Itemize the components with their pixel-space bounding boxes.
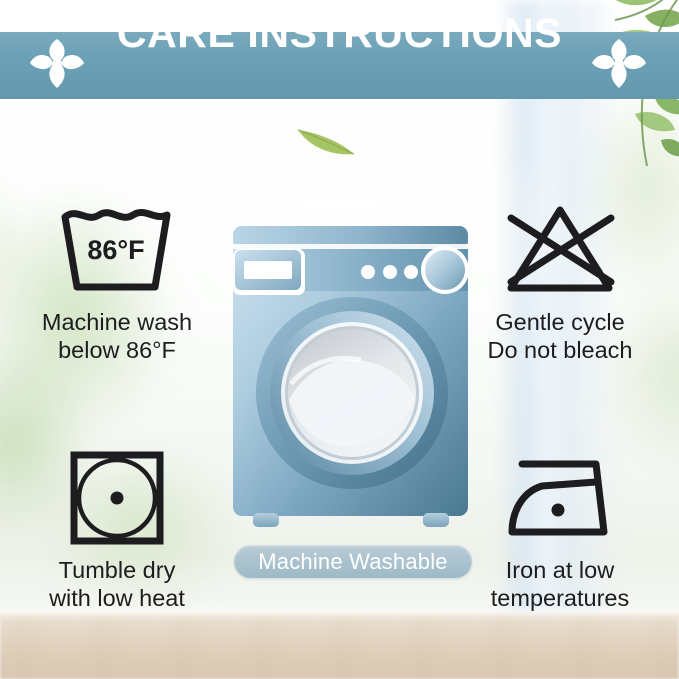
page-title: CARE INSTRUCTIONS: [0, 0, 679, 67]
care-symbol-iron: Iron at low temperatures: [455, 443, 665, 612]
washer-lid-seam: [233, 244, 468, 249]
care-symbol-label: Tumble dry with low heat: [12, 557, 222, 612]
care-symbol-label: Gentle cycle Do not bleach: [455, 309, 665, 364]
care-symbol-tumble-dry: Tumble dry with low heat: [12, 443, 222, 612]
washer-knob-dial[interactable]: [421, 246, 469, 294]
washer-indicator-dot: [361, 265, 375, 279]
washing-machine-illustration: [229, 208, 472, 538]
wood-grain-texture: [0, 613, 679, 679]
care-symbol-label: Iron at low temperatures: [455, 557, 665, 612]
care-symbol-label: Machine wash below 86°F: [12, 309, 222, 364]
care-symbol-machine-wash: 86°F Machine wash below 86°F: [12, 195, 222, 364]
triangle-crossed-icon: [455, 195, 665, 305]
iron-icon: [455, 443, 665, 553]
tumble-dry-icon: [12, 443, 222, 553]
washer-indicator-dot: [383, 265, 397, 279]
washer-indicator-dot: [404, 265, 418, 279]
washer-detergent-drawer: [233, 249, 305, 295]
machine-washable-badge: Machine Washable: [234, 545, 472, 578]
badge-label: Machine Washable: [258, 549, 447, 575]
wash-tub-icon: 86°F: [12, 195, 222, 305]
care-symbol-do-not-bleach: Gentle cycle Do not bleach: [455, 195, 665, 364]
wash-temperature-text: 86°F: [87, 235, 144, 265]
floating-leaf-icon: [296, 124, 356, 158]
care-instructions-infographic: CARE INSTRUCTIONS 86°F Machine wash belo…: [0, 0, 679, 679]
washer-door[interactable]: [256, 297, 448, 489]
